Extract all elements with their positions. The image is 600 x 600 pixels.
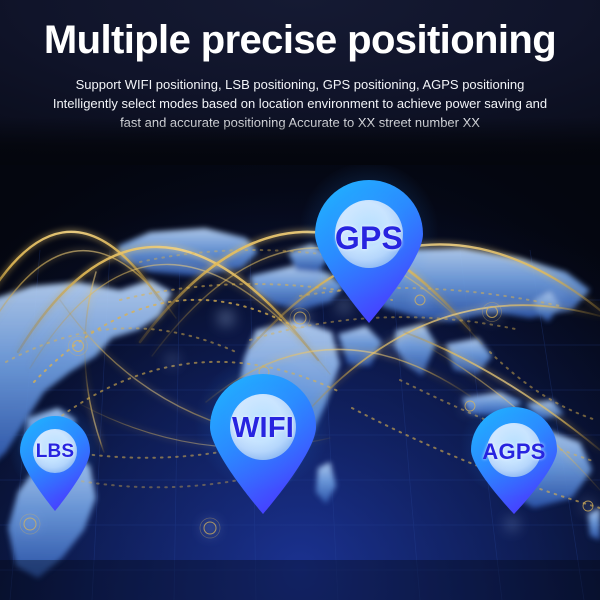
subtitle-line-2: Intelligently select modes based on loca… (0, 94, 600, 113)
location-pin-icon (206, 376, 320, 515)
header-banner: Multiple precise positioning Support WIF… (0, 0, 600, 165)
location-pin-icon (467, 411, 561, 515)
location-pin-icon (311, 182, 427, 324)
map-pin-gps[interactable]: GPS (311, 182, 427, 324)
subtitle-line-3: fast and accurate positioning Accurate t… (0, 113, 600, 132)
map-pin-lbs[interactable]: LBS (17, 417, 93, 512)
location-pin-icon (17, 417, 93, 512)
page-title: Multiple precise positioning (0, 18, 600, 62)
subtitle-line-1: Support WIFI positioning, LSB positionin… (0, 75, 600, 94)
page-subtitle: Support WIFI positioning, LSB positionin… (0, 75, 600, 132)
map-pin-wifi[interactable]: WIFI (206, 376, 320, 515)
promo-banner: Multiple precise positioning Support WIF… (0, 0, 600, 600)
map-pin-agps[interactable]: AGPS (467, 411, 561, 515)
